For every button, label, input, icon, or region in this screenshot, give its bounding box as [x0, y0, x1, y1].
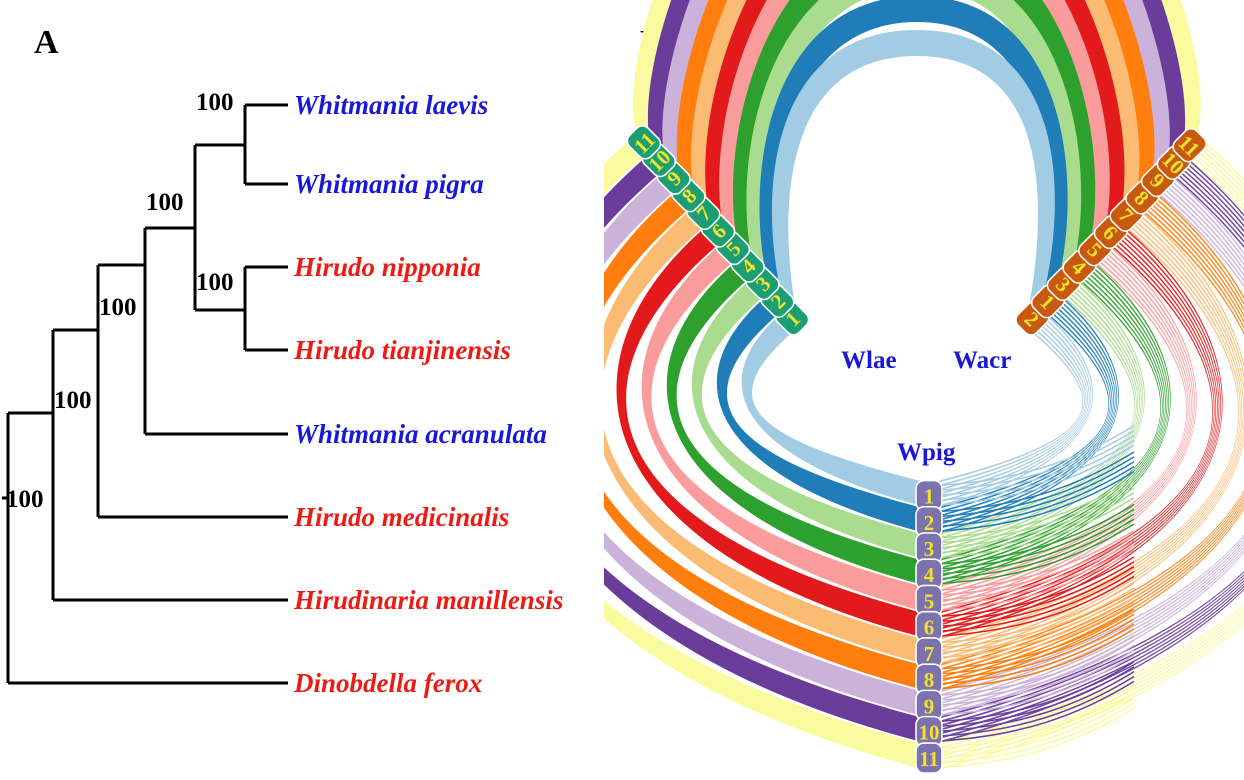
genome-label-wpig: Wpig [897, 440, 955, 465]
ribbon-wacr-wpig-chr2-strand4 [929, 300, 1114, 523]
chromosome-block-label: 2 [924, 511, 935, 535]
chromosome-block-label: 5 [924, 589, 935, 613]
ribbon-wacr-wpig-chr1-strand7 [929, 309, 1093, 509]
chromosome-block-label: 7 [924, 642, 935, 666]
ribbon-wacr-wpig-chr7-strand3 [929, 216, 1242, 650]
chromosome-block-wpig-11[interactable]: 11 [916, 743, 942, 773]
chromosome-block-wpig-10[interactable]: 10 [916, 717, 942, 747]
taxon-hirudo-nipponia: Hirudo nipponia [294, 254, 481, 281]
synteny-ribbons: 123456789101121345678910111234567891011 [604, 0, 1244, 780]
support-value-manillensis-node: 100 [6, 487, 44, 512]
ribbon-wacr-wpig-chr1-strand5 [929, 315, 1090, 502]
taxon-dinobdella-ferox: Dinobdella ferox [294, 670, 482, 697]
chromosome-block-label: 4 [924, 563, 935, 587]
taxon-hirudo-tianjinensis: Hirudo tianjinensis [294, 337, 511, 364]
support-value-medicinalis-node: 100 [54, 388, 92, 413]
support-value-acranulata-node: 100 [99, 295, 137, 320]
chromosome-block-label: 8 [924, 668, 935, 692]
chromosome-block-label: 10 [919, 721, 940, 745]
support-value-whitmania-hirudo: 100 [146, 190, 184, 215]
figure-root: A [0, 0, 1244, 780]
chromosome-block-label: 6 [924, 616, 935, 640]
support-value-hirudo-pair: 100 [196, 270, 234, 295]
chromosome-block-label: 9 [924, 694, 935, 718]
genome-label-wlae: Wlae [841, 348, 897, 373]
chromosome-block-label: 11 [919, 747, 939, 771]
taxon-hirudinaria-manillensis: Hirudinaria manillensis [294, 587, 563, 614]
support-value-whitmania-pair: 100 [196, 90, 234, 115]
taxon-whitmania-laevis: Whitmania laevis [294, 92, 488, 119]
chromosome-block-label: 1 [924, 485, 935, 509]
genome-label-wacr: Wacr [953, 348, 1011, 373]
taxon-hirudo-medicinalis: Hirudo medicinalis [294, 504, 509, 531]
taxon-whitmania-pigra: Whitmania pigra [294, 171, 484, 198]
chromosome-block-label: 3 [924, 537, 935, 561]
ribbon-wlae-wpig-chr1 [742, 310, 929, 508]
ribbon-wlae-wacr-chr1 [772, 30, 1055, 327]
taxon-whitmania-acranulata: Whitmania acranulata [294, 421, 547, 448]
